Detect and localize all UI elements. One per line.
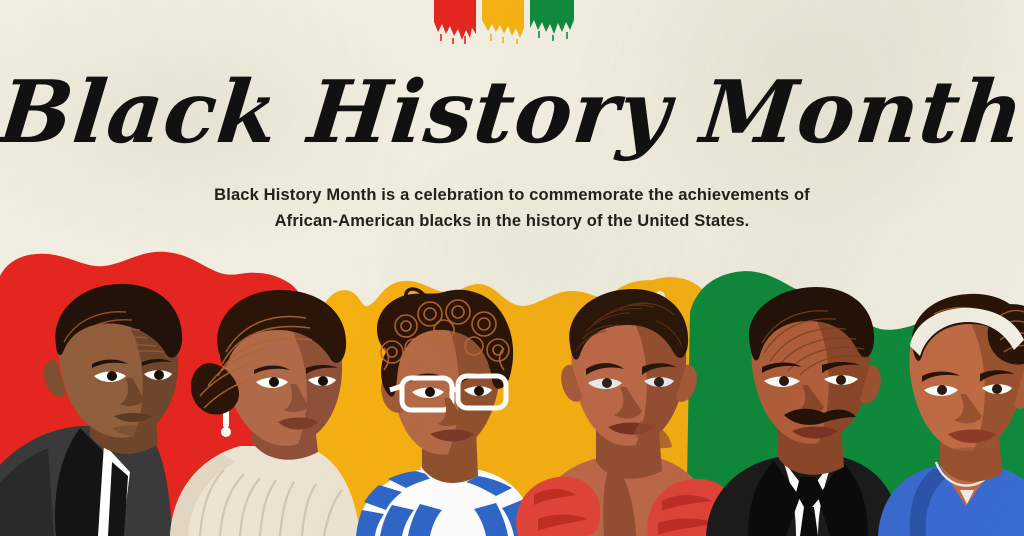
subtitle-line-1: Black History Month is a celebration to … <box>147 182 877 208</box>
yellow-brush-stroke <box>482 0 524 38</box>
subtitle-line-2: African-American blacks in the history o… <box>147 208 877 234</box>
portrait-row <box>0 246 1024 536</box>
green-brush-stroke <box>530 0 574 34</box>
tricolor-brush-stroke <box>432 0 576 48</box>
title-text: Black History Month <box>0 70 1024 156</box>
black-history-month-poster: Black History Month Black History Month … <box>0 0 1024 536</box>
portrait-athlete-headband <box>874 284 1024 536</box>
boxing-glove-left <box>516 477 600 536</box>
page-title: Black History Month <box>0 70 1024 156</box>
subtitle: Black History Month is a celebration to … <box>147 182 877 234</box>
